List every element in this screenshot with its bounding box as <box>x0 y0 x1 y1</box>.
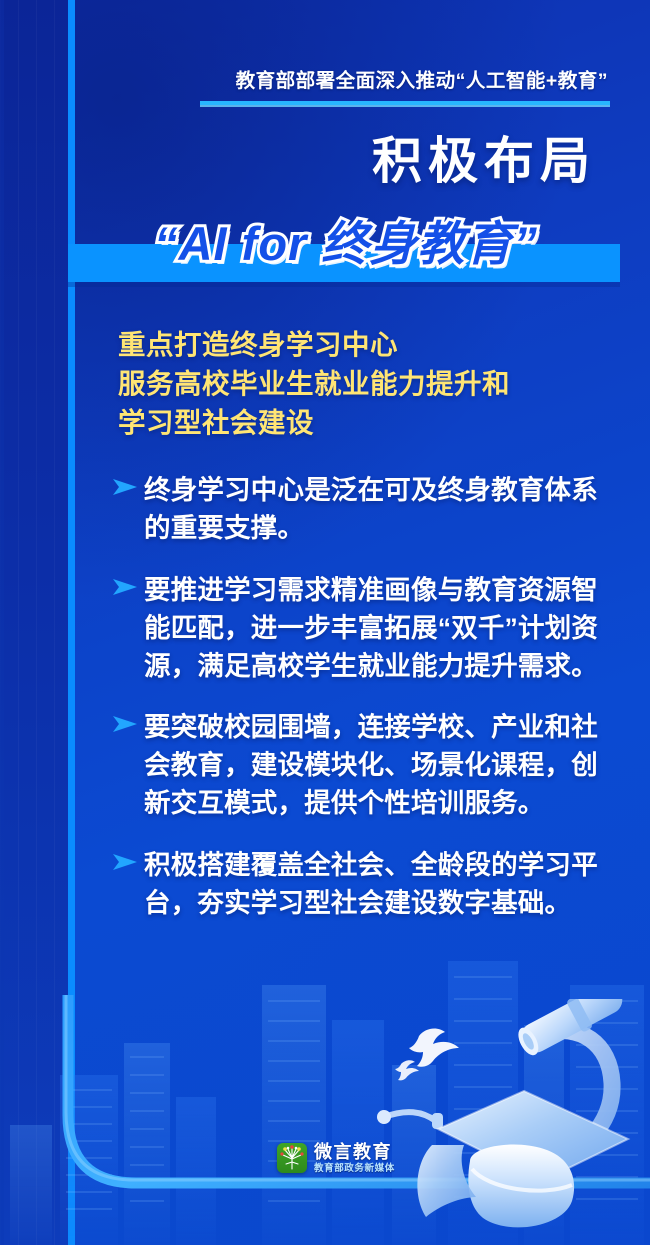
eyebrow-row: 教育部部署全面深入推动“人工智能+教育” <box>70 70 630 93</box>
city-skyline-icon <box>0 925 650 1245</box>
footer-logo-text: 微言教育 教育部政务新媒体 <box>314 1143 395 1174</box>
subheading-line-3: 学习型社会建设 <box>118 403 618 442</box>
arrow-right-triangle-icon <box>112 847 144 871</box>
subheading-line-1: 重点打造终身学习中心 <box>118 325 618 364</box>
arrow-right-triangle-icon <box>112 472 144 496</box>
list-item: 积极搭建覆盖全社会、全龄段的学习平台，夯实学习型社会建设数字基础。 <box>112 847 612 923</box>
page-title-secondary: “AI for 终身教育” <box>154 205 538 274</box>
footer-logo[interactable]: 微言教育 教育部政务新媒体 <box>277 1143 395 1174</box>
subheading-line-2: 服务高校毕业生就业能力提升和 <box>118 364 618 403</box>
bullet-list: 终身学习中心是泛在可及终身教育体系的重要支撑。 要推进学习需求精准画像与教育资源… <box>112 472 612 947</box>
eyebrow-underline-secondary <box>200 105 610 107</box>
list-item-text: 终身学习中心是泛在可及终身教育体系的重要支撑。 <box>144 472 612 548</box>
arrow-right-triangle-icon <box>112 709 144 733</box>
title-banner-shadow <box>68 282 620 287</box>
poster-canvas: 教育部部署全面深入推动“人工智能+教育” 积极布局 “AI for 终身教育” … <box>0 0 650 1245</box>
list-item: 要推进学习需求精准画像与教育资源智能匹配，进一步丰富拓展“双千”计划资源，满足高… <box>112 572 612 686</box>
left-dark-column <box>0 0 70 1245</box>
page-title-secondary-wrap: “AI for 终身教育” <box>70 203 622 275</box>
footer-logo-name: 微言教育 <box>314 1143 395 1161</box>
dove-icon <box>395 1020 485 1090</box>
subheading-block: 重点打造终身学习中心 服务高校毕业生就业能力提升和 学习型社会建设 <box>118 325 618 442</box>
dandelion-icon <box>277 1143 307 1173</box>
page-title-primary: 积极布局 <box>70 135 622 188</box>
left-edge-stripe <box>0 0 4 1245</box>
curved-pipe-decoration <box>0 995 650 1245</box>
list-item: 终身学习中心是泛在可及终身教育体系的重要支撑。 <box>112 472 612 548</box>
eyebrow-text: 教育部部署全面深入推动“人工智能+教育” <box>236 70 608 93</box>
list-item-text: 要推进学习需求精准画像与教育资源智能匹配，进一步丰富拓展“双千”计划资源，满足高… <box>144 572 612 686</box>
arrow-right-triangle-icon <box>112 572 144 596</box>
list-item-text: 要突破校园围墙，连接学校、产业和社会教育，建设模块化、场景化课程，创新交互模式，… <box>144 709 612 823</box>
list-item-text: 积极搭建覆盖全社会、全龄段的学习平台，夯实学习型社会建设数字基础。 <box>144 847 612 923</box>
graduation-cap-icon <box>366 999 650 1245</box>
list-item: 要突破校园围墙，连接学校、产业和社会教育，建设模块化、场景化课程，创新交互模式，… <box>112 709 612 823</box>
footer-logo-subtitle: 教育部政务新媒体 <box>314 1164 395 1174</box>
